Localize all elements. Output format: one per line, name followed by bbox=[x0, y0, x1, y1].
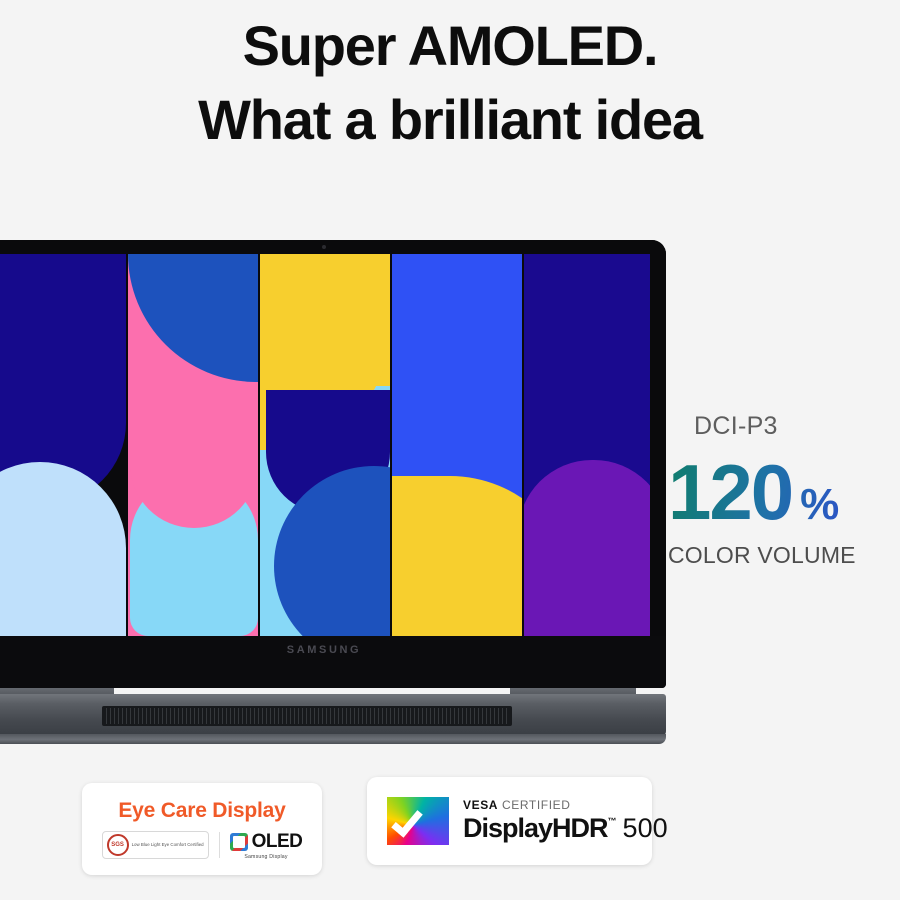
vesa-certified-word: CERTIFIED bbox=[502, 798, 571, 812]
oled-square-mark bbox=[230, 833, 248, 851]
spec-value-unit: % bbox=[800, 480, 839, 530]
screen-top-bezel bbox=[0, 240, 666, 254]
laptop-vent-grille bbox=[102, 706, 512, 726]
purple-pill-bottom bbox=[524, 460, 650, 636]
samsung-brand-logo: SAMSUNG bbox=[287, 644, 361, 656]
vesa-wordmark: VESA bbox=[463, 798, 498, 812]
spec-standard-label: DCI-P3 bbox=[694, 412, 900, 441]
laptop-base-lip bbox=[0, 734, 666, 744]
oled-caption: Samsung Display bbox=[244, 854, 287, 860]
oled-logo-row: OLED bbox=[230, 831, 303, 853]
navy-block-upper bbox=[266, 390, 390, 452]
webcam-icon bbox=[322, 245, 326, 249]
spec-value-number: 120 bbox=[668, 447, 792, 538]
sgs-seal-mark: SGS bbox=[107, 834, 129, 856]
wallpaper-column-3 bbox=[260, 254, 390, 636]
badge-eye-care-display: Eye Care Display SGS Low Blue Light Eye … bbox=[82, 783, 322, 875]
vent-slats bbox=[106, 708, 508, 724]
vesa-check-glyph bbox=[391, 804, 423, 837]
headline-line-1: Super AMOLED. bbox=[0, 12, 900, 80]
laptop-lid: SAMSUNG bbox=[0, 240, 666, 688]
badge-divider bbox=[219, 832, 220, 858]
eye-care-title: Eye Care Display bbox=[118, 799, 285, 823]
sgs-seal-caption: Low Blue Light Eye Comfort Certified bbox=[132, 842, 204, 848]
sgs-eye-comfort-seal-icon: SGS Low Blue Light Eye Comfort Certified bbox=[102, 831, 209, 859]
vesa-certified-line: VESA CERTIFIED bbox=[463, 798, 668, 812]
laptop-device: SAMSUNG bbox=[0, 240, 666, 760]
displayhdr-wordmark: DisplayHDR bbox=[463, 813, 608, 844]
spec-sublabel: COLOR VOLUME bbox=[668, 542, 900, 569]
royal-blue-quarter-circle bbox=[128, 254, 258, 382]
trademark-symbol: ™ bbox=[608, 816, 616, 826]
yellow-quarter-circle bbox=[392, 476, 522, 636]
badge-vesa-displayhdr: VESA CERTIFIED DisplayHDR ™ 500 bbox=[367, 777, 652, 865]
screen-bottom-bezel: SAMSUNG bbox=[0, 636, 666, 688]
oled-wordmark: OLED bbox=[252, 831, 303, 853]
light-blue-pill-bottom bbox=[0, 462, 126, 636]
displayhdr-level: 500 bbox=[623, 813, 668, 844]
wallpaper-column-1 bbox=[0, 254, 126, 636]
eye-care-certification-row: SGS Low Blue Light Eye Comfort Certified… bbox=[102, 831, 303, 860]
wallpaper-column-2 bbox=[128, 254, 258, 636]
display-spec-block: DCI-P3 120 % COLOR VOLUME bbox=[668, 412, 900, 569]
spec-value-group: 120 % bbox=[668, 447, 900, 538]
vesa-text-group: VESA CERTIFIED DisplayHDR ™ 500 bbox=[463, 798, 668, 844]
wallpaper-column-4 bbox=[392, 254, 522, 636]
displayhdr-line: DisplayHDR ™ 500 bbox=[463, 813, 668, 844]
oled-logo-icon: OLED Samsung Display bbox=[230, 831, 303, 860]
wallpaper-column-5 bbox=[524, 254, 650, 636]
headline-line-2: What a brilliant idea bbox=[0, 86, 900, 154]
vesa-rainbow-check-icon bbox=[387, 797, 449, 845]
page-headline: Super AMOLED. What a brilliant idea bbox=[0, 12, 900, 155]
laptop-screen-wallpaper bbox=[0, 254, 650, 636]
